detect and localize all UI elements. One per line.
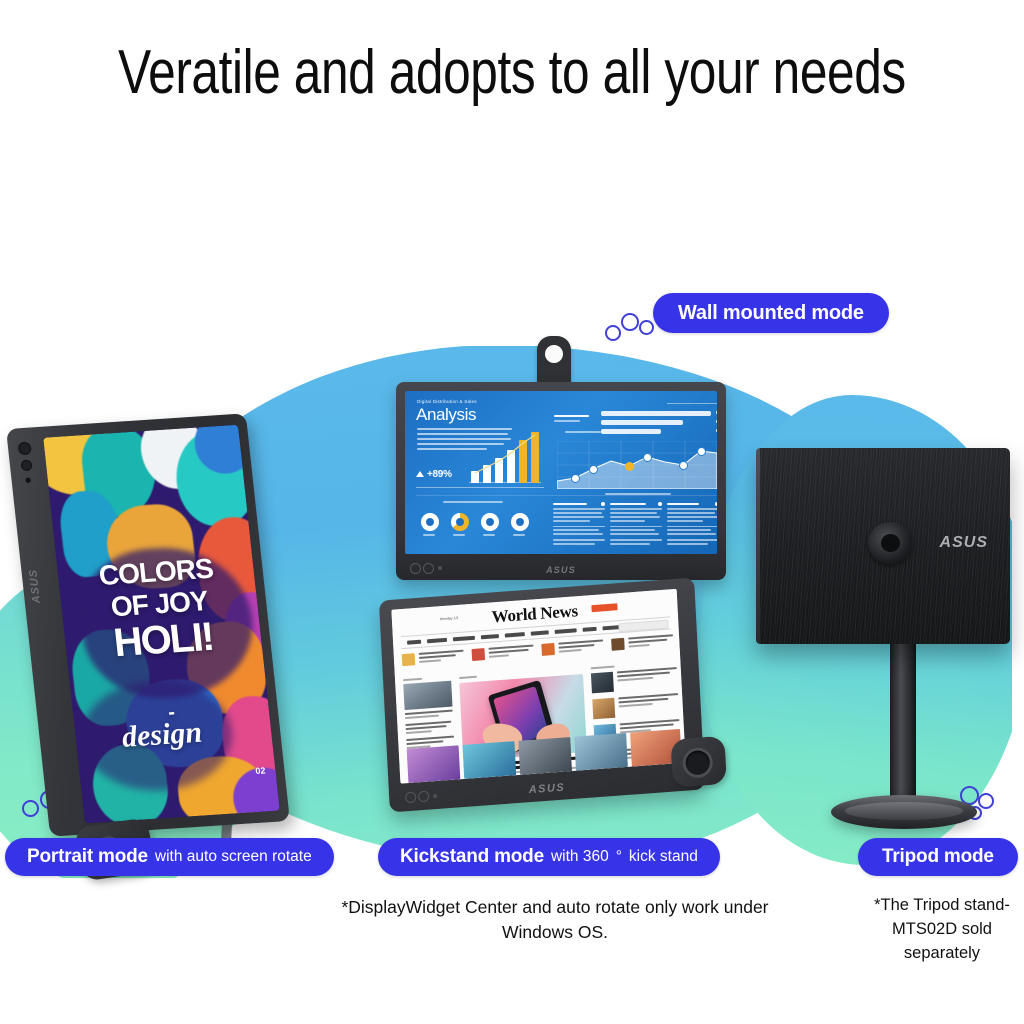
news-ticker-item[interactable] [541, 638, 604, 667]
power-button-icon[interactable] [18, 442, 32, 456]
badge-kickstand-sub-post: kick stand [629, 848, 698, 866]
donut-4 [511, 513, 529, 531]
area-chart-title [565, 431, 601, 435]
monitor-tripod-mode[interactable]: ASUS [756, 448, 1010, 644]
dashboard-column-3 [667, 503, 717, 547]
decorative-ring-icon [639, 320, 654, 335]
wall-monitor-chin: ASUS [396, 554, 726, 580]
degree-symbol-icon: ° [616, 848, 622, 866]
analysis-dashboard: Digital Distribution & Sales Analysis +8… [405, 391, 717, 554]
wall-screen: Digital Distribution & Sales Analysis +8… [405, 391, 717, 554]
donut-2 [451, 513, 469, 531]
news-thumbnail[interactable] [574, 733, 628, 771]
portrait-monitor-body: ASUS [6, 413, 290, 837]
news-ticker-item[interactable] [471, 643, 534, 672]
footnote-displaywidget: *DisplayWidget Center and auto rotate on… [330, 895, 780, 945]
donut-1 [421, 513, 439, 531]
art-script-design: design [120, 716, 204, 755]
badge-wall-label: Wall mounted mode [678, 302, 864, 325]
page-title: Veratile and adopts to all your needs [102, 40, 921, 106]
badge-kickstand-label: Kickstand mode [400, 846, 544, 868]
badge-kickstand-mode[interactable]: Kickstand mode with 360 ° kick stand [378, 838, 720, 876]
kickstand-loop-hinge [670, 736, 726, 788]
joystick-button-icon[interactable] [418, 791, 430, 803]
news-thumbnail[interactable] [463, 741, 517, 779]
donut-group-title [443, 501, 503, 505]
bar-chart [469, 431, 541, 483]
led-indicator-icon [25, 478, 31, 483]
power-button-icon[interactable] [405, 791, 417, 803]
badge-wall-mounted-mode[interactable]: Wall mounted mode [653, 293, 889, 333]
vesa-mount-hub-icon [868, 522, 912, 564]
poster-canvas: Veratile and adopts to all your needs AS… [0, 0, 1024, 1024]
decorative-ring-icon [621, 313, 639, 331]
decorative-ring-icon [605, 325, 621, 341]
joystick-button-icon[interactable] [423, 563, 434, 574]
growth-up-triangle-icon [416, 471, 424, 477]
badge-tripod-mode[interactable]: Tripod mode [858, 838, 1018, 876]
badge-kickstand-sub-pre: with 360 [551, 848, 609, 866]
power-button-icon[interactable] [410, 563, 421, 574]
donut-3 [481, 513, 499, 531]
dashboard-kicker: Digital Distribution & Sales [417, 399, 477, 404]
badge-portrait-mode[interactable]: Portrait mode with auto screen rotate [5, 838, 334, 876]
world-news-page: Monday 1/1 World News [391, 589, 685, 784]
asus-logo: ASUS [528, 782, 565, 797]
asus-logo: ASUS [546, 565, 576, 575]
dashboard-title: Analysis [416, 405, 476, 425]
news-thumbnail[interactable] [518, 737, 572, 775]
led-indicator-icon [438, 566, 442, 570]
dashboard-column-1 [553, 503, 605, 547]
tripod-monitor-rear-panel: ASUS [756, 448, 1010, 644]
led-indicator-icon [433, 794, 437, 798]
wall-monitor-body: Digital Distribution & Sales Analysis +8… [396, 382, 726, 580]
decorative-ring-icon [22, 800, 39, 817]
portrait-screen: COLORS OF JOY HOLI! - design 02 [43, 425, 280, 824]
kickstand-screen: Monday 1/1 World News [391, 589, 685, 784]
badge-tripod-label: Tripod mode [882, 846, 994, 868]
hbar-title [554, 415, 598, 424]
tripod-monitor-edge [756, 448, 760, 644]
growth-percent: +89% [427, 469, 452, 480]
footnote-tripod-stand: *The Tripod stand-MTS02D sold separately [860, 893, 1024, 965]
monitor-kickstand-mode[interactable]: Monday 1/1 World News [379, 578, 705, 813]
art-corner-number: 02 [255, 765, 266, 776]
tripod-stand-base [831, 795, 977, 829]
decorative-ring-icon [978, 793, 994, 809]
asus-logo: ASUS [27, 569, 43, 604]
area-chart [557, 441, 717, 489]
bar-trendline-icon [469, 431, 541, 483]
asus-logo: ASUS [940, 534, 988, 552]
badge-portrait-label: Portrait mode [27, 846, 148, 868]
news-ticker-item[interactable] [402, 649, 465, 678]
dashboard-column-2 [610, 503, 662, 547]
portrait-wallpaper-art: COLORS OF JOY HOLI! - design 02 [43, 425, 280, 824]
joystick-button-icon[interactable] [20, 460, 32, 472]
monitor-portrait-mode[interactable]: ASUS [6, 413, 290, 837]
badge-portrait-sub: with auto screen rotate [155, 848, 312, 866]
news-thumbnail[interactable] [407, 745, 461, 783]
kickstand-monitor-body: Monday 1/1 World News [379, 578, 705, 813]
background-mask-right [1012, 330, 1024, 890]
monitor-wall-mounted-mode[interactable]: Digital Distribution & Sales Analysis +8… [396, 382, 726, 580]
news-ticker-item[interactable] [611, 633, 674, 662]
